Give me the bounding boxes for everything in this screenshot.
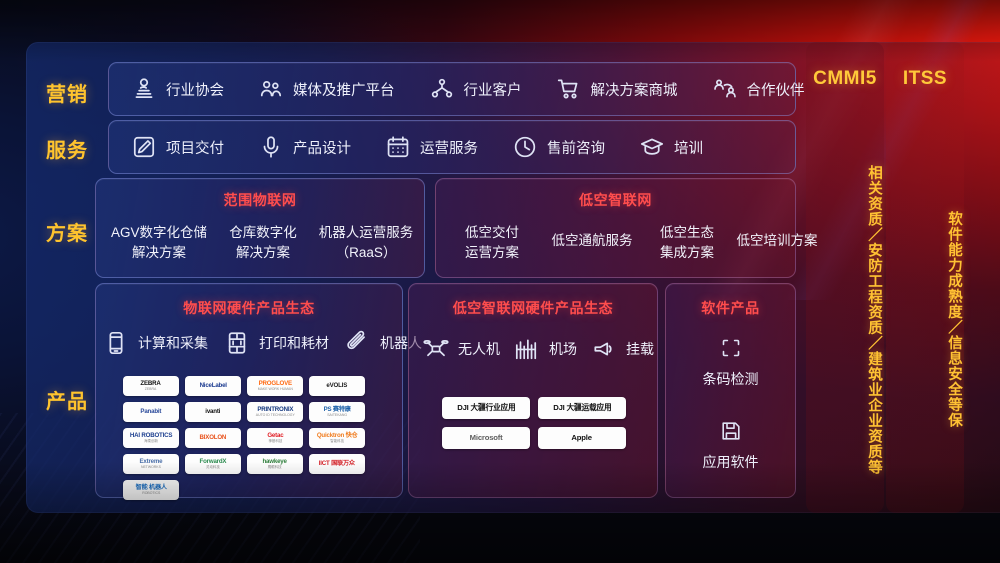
logo-tile-name: eVOLIS — [327, 383, 348, 389]
product-lowaltitude-title: 低空智联网硬件产品生态 — [409, 298, 657, 318]
product-software-item-0[interactable]: 条码检测 — [666, 336, 795, 389]
floppy-disk-icon — [719, 419, 743, 443]
marketing-item-4[interactable]: 合作伙伴 — [712, 76, 805, 102]
network-users-icon — [429, 76, 455, 102]
product-lowaltitude-card: 低空智联网硬件产品生态 无人机 机场 — [408, 283, 658, 498]
product-iot-category-0-label: 计算和采集 — [138, 333, 208, 353]
logo-tile-name: PRINTRONIXAUTO ID TECHNOLOGY — [255, 407, 294, 418]
service-item-4[interactable]: 培训 — [639, 134, 703, 160]
drone-icon — [423, 336, 449, 362]
marketing-item-0-label: 行业协会 — [166, 79, 224, 100]
logo-tile-name: 智能 机器人ROBOTICS — [135, 485, 166, 496]
logo-tile[interactable]: PRINTRONIXAUTO ID TECHNOLOGY — [247, 402, 303, 422]
logo-tile[interactable]: DJI 大疆运载应用 — [538, 397, 626, 419]
shopping-cart-icon — [556, 76, 582, 102]
solution-la-item-0[interactable]: 低空交付 运营方案 — [444, 223, 540, 262]
service-item-2-label: 运营服务 — [420, 137, 478, 158]
solution-group-lowaltitude-title: 低空智联网 — [436, 190, 795, 210]
logo-tile-subtitle: 海柔创新 — [130, 440, 172, 443]
service-item-0-label: 项目交付 — [166, 137, 224, 158]
solution-iot-item-2[interactable]: 机器人运营服务 （RaaS） — [310, 223, 422, 262]
logo-tile[interactable]: BIXOLON — [185, 428, 241, 448]
logo-tile-name: Getac神基科技 — [267, 433, 283, 444]
logo-tile[interactable]: DJI 大疆行业应用 — [442, 397, 530, 419]
logo-tile[interactable]: ivanti — [185, 402, 241, 422]
logo-tile[interactable]: HAI ROBOTICS海柔创新 — [123, 428, 179, 448]
logo-tile[interactable]: 智能 机器人ROBOTICS — [123, 480, 179, 500]
product-software-item-1-label: 应用软件 — [703, 454, 759, 470]
product-software-title: 软件产品 — [666, 298, 795, 318]
printer-icon — [224, 330, 250, 356]
logo-tile[interactable]: hawkeye鹰眼科技 — [247, 454, 303, 474]
service-item-2[interactable]: 运营服务 — [385, 134, 478, 160]
service-item-0[interactable]: 项目交付 — [131, 134, 224, 160]
logo-tile[interactable]: Getac神基科技 — [247, 428, 303, 448]
microphone-icon — [258, 134, 284, 160]
logo-tile-name: ExtremeNETWORKS — [140, 459, 163, 470]
product-iot-category-0[interactable]: 计算和采集 — [103, 330, 208, 356]
logo-tile-subtitle: NETWORKS — [140, 466, 163, 469]
product-la-category-1[interactable]: 机场 — [514, 336, 577, 362]
logo-tile-name: Quicktron 快仓智能科技 — [317, 433, 358, 444]
logo-tile-name: Apple — [572, 434, 592, 442]
product-iot-category-1-label: 打印和耗材 — [259, 333, 329, 353]
logo-tile-name: HAI ROBOTICS海柔创新 — [130, 433, 172, 444]
marketing-item-2-label: 行业客户 — [464, 79, 522, 100]
barcode-scan-frame-icon — [719, 336, 743, 360]
product-iot-card: 物联网硬件产品生态 计算和采集 打印和耗材 — [95, 283, 403, 498]
rail-label-product: 产品 — [36, 385, 98, 414]
logo-tile[interactable]: PS 赛特康SAITEKANG — [309, 402, 365, 422]
product-la-category-0[interactable]: 无人机 — [423, 336, 500, 362]
logo-tile[interactable]: Microsoft — [442, 427, 530, 449]
logo-tile[interactable]: eVOLIS — [309, 376, 365, 396]
handshake-partners-icon — [712, 76, 738, 102]
certification-code-itss: ITSS — [886, 68, 964, 90]
logo-tile-name: PS 赛特康SAITEKANG — [323, 407, 350, 418]
logo-tile[interactable]: NiceLabel — [185, 376, 241, 396]
product-iot-category-1[interactable]: 打印和耗材 — [224, 330, 329, 356]
solution-iot-item-1[interactable]: 仓库数字化 解决方案 — [214, 223, 312, 262]
solution-group-iot-title: 范围物联网 — [96, 190, 424, 210]
product-software-item-0-label: 条码检测 — [703, 371, 759, 387]
service-item-3-label: 售前咨询 — [547, 137, 605, 158]
product-iot-logo-grid: ZEBRAZEBRANiceLabelPROGLOVEMAKE WORK HUM… — [123, 376, 375, 506]
solution-group-iot-card: 范围物联网 AGV数字化仓储 解决方案 仓库数字化 解决方案 机器人运营服务 （… — [95, 178, 425, 278]
solution-iot-item-0[interactable]: AGV数字化仓储 解决方案 — [104, 223, 214, 262]
certification-text-itss: 软件能力成熟度／信息安全等保 — [886, 100, 964, 539]
logo-tile-subtitle: ROBOTICS — [135, 492, 166, 495]
paperclip-robot-icon — [345, 330, 371, 356]
logo-tile[interactable]: Quicktron 快仓智能科技 — [309, 428, 365, 448]
marketing-item-1-label: 媒体及推广平台 — [293, 79, 395, 100]
logo-tile-subtitle: 智能科技 — [317, 440, 358, 443]
logo-tile-name: NiceLabel — [199, 383, 226, 389]
product-la-category-1-label: 机场 — [549, 339, 577, 359]
rail-label-service: 服务 — [36, 134, 98, 163]
logo-tile-name: PROGLOVEMAKE WORK HUMAN — [257, 381, 292, 392]
logo-tile[interactable]: PROGLOVEMAKE WORK HUMAN — [247, 376, 303, 396]
logo-tile-subtitle: 神基科技 — [267, 440, 283, 443]
podium-speaker-icon — [131, 76, 157, 102]
logo-tile-name: hawkeye鹰眼科技 — [263, 459, 287, 470]
marketing-item-3[interactable]: 解决方案商城 — [556, 76, 678, 102]
certification-code-cmmi5: CMMI5 — [806, 68, 884, 90]
service-row-card: 项目交付 产品设计 运营服务 — [108, 120, 796, 174]
pen-edit-icon — [131, 134, 157, 160]
rail-label-marketing: 营销 — [36, 78, 98, 107]
marketing-item-3-label: 解决方案商城 — [591, 79, 678, 100]
service-item-3[interactable]: 售前咨询 — [512, 134, 605, 160]
mobile-device-icon — [103, 330, 129, 356]
marketing-row-card: 行业协会 媒体及推广平台 行业客户 — [108, 62, 796, 116]
product-software-item-1[interactable]: 应用软件 — [666, 419, 795, 472]
logo-tile-subtitle: MAKE WORK HUMAN — [257, 388, 292, 391]
logo-tile-name: BIXOLON — [200, 435, 227, 441]
logo-tile-name: ivanti — [206, 409, 221, 415]
logo-tile-subtitle: 灵动科技 — [200, 466, 227, 469]
logo-tile-subtitle: 鹰眼科技 — [263, 466, 287, 469]
rail-label-solution: 方案 — [36, 217, 98, 246]
logo-tile-name: IICT 国联万众 — [319, 461, 355, 467]
solution-la-item-1[interactable]: 低空通航服务 — [540, 231, 644, 251]
logo-tile-name: DJI 大疆运载应用 — [553, 404, 611, 412]
product-iot-title: 物联网硬件产品生态 — [96, 298, 402, 318]
certification-text-cmmi5: 相关资质／安防工程资质／建筑业企业资质等 — [806, 100, 884, 539]
product-lowaltitude-logo-grid: DJI 大疆行业应用DJI 大疆运载应用MicrosoftApple — [442, 397, 628, 457]
calendar-icon — [385, 134, 411, 160]
service-item-4-label: 培训 — [674, 137, 703, 158]
logo-tile[interactable]: IICT 国联万众 — [309, 454, 365, 474]
payload-gimbal-icon — [591, 336, 617, 362]
service-item-1-label: 产品设计 — [293, 137, 351, 158]
marketing-item-0[interactable]: 行业协会 — [131, 76, 224, 102]
slide-canvas: CMMI5 相关资质／安防工程资质／建筑业企业资质等 ITSS 软件能力成熟度／… — [0, 0, 1000, 563]
product-software-card: 软件产品 条码检测 应用软件 — [665, 283, 796, 498]
graduation-cap-icon — [639, 134, 665, 160]
logo-tile-name: DJI 大疆行业应用 — [457, 404, 515, 412]
service-item-1[interactable]: 产品设计 — [258, 134, 351, 160]
logo-tile[interactable]: Apple — [538, 427, 626, 449]
marketing-item-2[interactable]: 行业客户 — [429, 76, 522, 102]
airport-hangar-icon — [514, 336, 540, 362]
clock-icon — [512, 134, 538, 160]
solution-la-item-2[interactable]: 低空生态 集成方案 — [644, 223, 730, 262]
logo-tile-subtitle: SAITEKANG — [323, 414, 350, 417]
product-la-category-2-label: 挂载 — [626, 339, 654, 359]
logo-tile-name: Panabit — [141, 409, 162, 415]
logo-tile[interactable]: ExtremeNETWORKS — [123, 454, 179, 474]
logo-tile[interactable]: ForwardX灵动科技 — [185, 454, 241, 474]
logo-tile[interactable]: ZEBRAZEBRA — [123, 376, 179, 396]
marketing-item-1[interactable]: 媒体及推广平台 — [258, 76, 395, 102]
solution-group-lowaltitude-card: 低空智联网 低空交付 运营方案 低空通航服务 低空生态 集成方案 低空培训方案 — [435, 178, 796, 278]
logo-tile-name: ZEBRAZEBRA — [141, 381, 161, 392]
people-group-icon — [258, 76, 284, 102]
product-la-category-2[interactable]: 挂载 — [591, 336, 654, 362]
logo-tile-subtitle: AUTO ID TECHNOLOGY — [255, 414, 294, 417]
logo-tile[interactable]: Panabit — [123, 402, 179, 422]
logo-tile-name: ForwardX灵动科技 — [200, 459, 227, 470]
solution-la-item-3[interactable]: 低空培训方案 — [726, 231, 828, 251]
logo-tile-name: Microsoft — [470, 434, 503, 442]
product-la-category-0-label: 无人机 — [458, 339, 500, 359]
marketing-item-4-label: 合作伙伴 — [747, 79, 805, 100]
logo-tile-subtitle: ZEBRA — [141, 388, 161, 391]
